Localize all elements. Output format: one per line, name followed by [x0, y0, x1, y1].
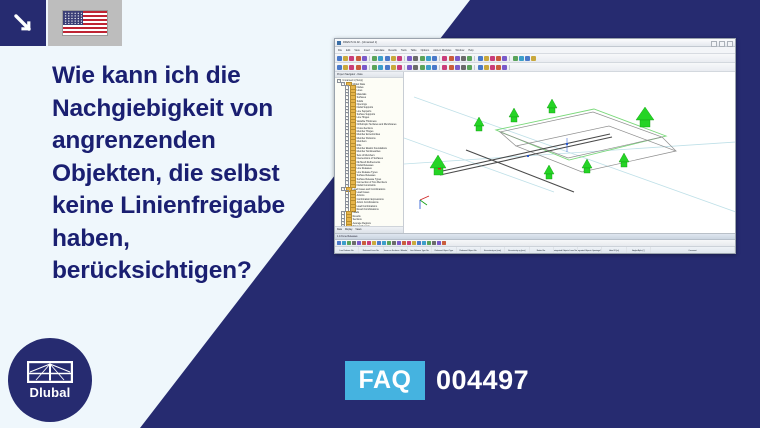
table-toolbar-button[interactable]	[427, 241, 431, 245]
table-column-header[interactable]: Released Object No.	[457, 247, 481, 254]
toolbar-button[interactable]	[496, 65, 501, 70]
toolbar-button[interactable]	[455, 65, 460, 70]
toolbar-separator	[404, 56, 405, 61]
toolbar-button[interactable]	[385, 56, 390, 61]
table-column-header[interactable]: Integrated Objects Openings No.	[578, 247, 602, 254]
app-toolbar-row-2[interactable]	[335, 63, 735, 72]
toolbar-separator	[369, 65, 370, 70]
table-toolbar-button[interactable]	[417, 241, 421, 245]
toolbar-button[interactable]	[449, 65, 454, 70]
toolbar-button[interactable]	[478, 65, 483, 70]
table-column-header[interactable]: Release on Surfaces / Members	[384, 247, 408, 254]
toolbar-button[interactable]	[362, 65, 367, 70]
us-flag-icon	[62, 10, 108, 36]
maximize-button[interactable]	[719, 41, 725, 47]
toolbar-separator	[439, 56, 440, 61]
toolbar-button[interactable]	[513, 56, 518, 61]
toolbar-button[interactable]	[496, 56, 501, 61]
menu-item[interactable]: Options	[421, 49, 430, 52]
table-column-header[interactable]: Eccentricity ex [mm]	[481, 247, 505, 254]
menu-item[interactable]: View	[354, 49, 359, 52]
table-toolbar-button[interactable]	[387, 241, 391, 245]
model-viewport[interactable]	[404, 72, 735, 233]
faq-number: 004497	[436, 361, 529, 400]
app-menubar[interactable]: FileEditViewInsertCalculateResultsToolsT…	[335, 47, 735, 54]
toolbar-button[interactable]	[337, 65, 342, 70]
toolbar-button[interactable]	[407, 65, 412, 70]
toolbar-button[interactable]	[484, 65, 489, 70]
navigator-tab[interactable]: Views	[355, 229, 361, 231]
table-toolbar-button[interactable]	[392, 241, 396, 245]
toolbar-button[interactable]	[372, 56, 377, 61]
toolbar-button[interactable]	[449, 56, 454, 61]
app-body: Project Navigator - Data +Unnamed 1 (Tem…	[335, 72, 735, 233]
table-toolbar-button[interactable]	[407, 241, 411, 245]
table-toolbar-button[interactable]	[442, 241, 446, 245]
page-title: Wie kann ich die Nachgiebigkeit von angr…	[52, 60, 322, 288]
toolbar-button[interactable]	[343, 56, 348, 61]
navigator-tab[interactable]: Display	[345, 229, 353, 231]
toolbar-button[interactable]	[407, 56, 412, 61]
toolbar-button[interactable]	[461, 65, 466, 70]
menu-item[interactable]: Tools	[401, 49, 407, 52]
menu-item[interactable]: Add-on Modules	[433, 49, 451, 52]
toolbar-button[interactable]	[519, 56, 524, 61]
toolbar-button[interactable]	[525, 56, 530, 61]
dlubal-logo-text: Dlubal	[30, 386, 71, 399]
minimize-button[interactable]	[711, 41, 717, 47]
toolbar-button[interactable]	[461, 56, 466, 61]
app-icon	[337, 41, 341, 45]
table-column-header[interactable]: Nodes No.	[530, 247, 554, 254]
navigator-tab[interactable]: Data	[337, 229, 342, 231]
language-flag-box[interactable]	[48, 0, 122, 46]
navigator-tabs[interactable]: DataDisplayViews	[335, 226, 403, 233]
table-toolbar-button[interactable]	[337, 241, 341, 245]
toolbar-button[interactable]	[442, 65, 447, 70]
toolbar-button[interactable]	[432, 56, 437, 61]
table-column-header[interactable]: Line Release Type No.	[408, 247, 432, 254]
toolbar-button[interactable]	[413, 56, 418, 61]
dlubal-logo[interactable]: Dlubal	[8, 338, 92, 422]
menu-item[interactable]: Window	[455, 49, 464, 52]
toolbar-button[interactable]	[420, 65, 425, 70]
toolbar-button[interactable]	[426, 56, 431, 61]
toolbar-separator	[439, 65, 440, 70]
navigator-tree[interactable]: +Unnamed 1 (Temp)+Model Data+Nodes+Lines…	[335, 78, 403, 233]
menu-item[interactable]: Edit	[346, 49, 350, 52]
toolbar-separator	[369, 56, 370, 61]
table-toolbar-button[interactable]	[422, 241, 426, 245]
table-column-header[interactable]: Eccentricity ey [mm]	[505, 247, 529, 254]
toolbar-button[interactable]	[490, 65, 495, 70]
table-header-row: Line Release No.Released Lines No.Releas…	[335, 247, 735, 254]
table-toolbar-button[interactable]	[377, 241, 381, 245]
app-title: RFEM 5.31.02 - [Unnamed 1]	[343, 41, 377, 44]
table-column-header[interactable]: Angle Alpha [°]	[627, 247, 651, 254]
toolbar-button[interactable]	[467, 65, 472, 70]
table-toolbar-button[interactable]	[397, 241, 401, 245]
window-controls[interactable]	[711, 41, 733, 47]
close-button[interactable]	[727, 41, 733, 47]
table-toolbar-button[interactable]	[347, 241, 351, 245]
toolbar-button[interactable]	[378, 56, 383, 61]
toolbar-button[interactable]	[372, 65, 377, 70]
rfem-application-screenshot: RFEM 5.31.02 - [Unnamed 1] FileEditViewI…	[334, 38, 736, 254]
toolbar-button[interactable]	[349, 65, 354, 70]
toolbar-button[interactable]	[484, 56, 489, 61]
toolbar-button[interactable]	[343, 65, 348, 70]
tree-item-label: Result Combinations	[357, 208, 379, 211]
project-navigator[interactable]: Project Navigator - Data +Unnamed 1 (Tem…	[335, 72, 404, 233]
toolbar-button[interactable]	[426, 65, 431, 70]
table-toolbar-button[interactable]	[402, 241, 406, 245]
toolbar-button[interactable]	[397, 65, 402, 70]
table-panel[interactable]: 1.13 Line Releases Line Release No.Relea…	[335, 233, 735, 254]
toolbar-button[interactable]	[349, 56, 354, 61]
app-toolbar-row-1[interactable]	[335, 54, 735, 63]
table-toolbar-button[interactable]	[352, 241, 356, 245]
table-toolbar-button[interactable]	[372, 241, 376, 245]
table-toolbar-button[interactable]	[342, 241, 346, 245]
table-column-header[interactable]: Released Lines No.	[359, 247, 383, 254]
table-column-header[interactable]: Integrated Objects Lines No.	[554, 247, 578, 254]
app-titlebar: RFEM 5.31.02 - [Unnamed 1]	[335, 39, 735, 47]
menu-item[interactable]: Calculate	[374, 49, 384, 52]
table-toolbar-button[interactable]	[432, 241, 436, 245]
toolbar-button[interactable]	[378, 65, 383, 70]
toolbar-button[interactable]	[337, 56, 342, 61]
faq-badge: FAQ	[345, 361, 425, 400]
toolbar-button[interactable]	[455, 56, 460, 61]
table-column-header[interactable]: Comment	[651, 247, 735, 254]
table-toolbar-button[interactable]	[367, 241, 371, 245]
data-table[interactable]: Line Release No.Released Lines No.Releas…	[335, 247, 735, 254]
toolbar-button[interactable]	[356, 56, 361, 61]
toolbar-button[interactable]	[356, 65, 361, 70]
faq-card: Wie kann ich die Nachgiebigkeit von angr…	[0, 0, 760, 428]
arrow-down-right-icon	[0, 0, 46, 46]
menu-item[interactable]: Help	[468, 49, 473, 52]
table-toolbar-button[interactable]	[437, 241, 441, 245]
toolbar-button[interactable]	[413, 65, 418, 70]
toolbar-button[interactable]	[391, 65, 396, 70]
toolbar-button[interactable]	[490, 56, 495, 61]
toolbar-button[interactable]	[362, 56, 367, 61]
toolbar-button[interactable]	[502, 56, 507, 61]
toolbar-button[interactable]	[397, 56, 402, 61]
toolbar-button[interactable]	[420, 56, 425, 61]
table-toolbar-button[interactable]	[382, 241, 386, 245]
toolbar-button[interactable]	[531, 56, 536, 61]
table-toolbar-button[interactable]	[412, 241, 416, 245]
table-toolbar[interactable]	[335, 240, 735, 247]
toolbar-button[interactable]	[502, 65, 507, 70]
menu-item[interactable]: Insert	[364, 49, 370, 52]
menu-item[interactable]: Table	[411, 49, 417, 52]
toolbar-button[interactable]	[385, 65, 390, 70]
dlubal-frame-icon	[27, 361, 73, 383]
toolbar-button[interactable]	[478, 56, 483, 61]
toolbar-separator	[509, 65, 510, 70]
table-column-header[interactable]: Axial Xl [m]	[602, 247, 626, 254]
menu-item[interactable]: Results	[388, 49, 396, 52]
toolbar-button[interactable]	[391, 56, 396, 61]
toolbar-separator	[509, 56, 510, 61]
table-toolbar-button[interactable]	[357, 241, 361, 245]
toolbar-separator	[474, 56, 475, 61]
toolbar-separator	[404, 65, 405, 70]
toolbar-button[interactable]	[467, 56, 472, 61]
toolbar-button[interactable]	[432, 65, 437, 70]
toolbar-button[interactable]	[442, 56, 447, 61]
table-column-header[interactable]: Released Object Type	[432, 247, 456, 254]
menu-item[interactable]: File	[338, 49, 342, 52]
toolbar-separator	[474, 65, 475, 70]
table-column-header[interactable]: Line Release No.	[335, 247, 359, 254]
faq-label: FAQ	[359, 366, 412, 395]
table-toolbar-button[interactable]	[362, 241, 366, 245]
